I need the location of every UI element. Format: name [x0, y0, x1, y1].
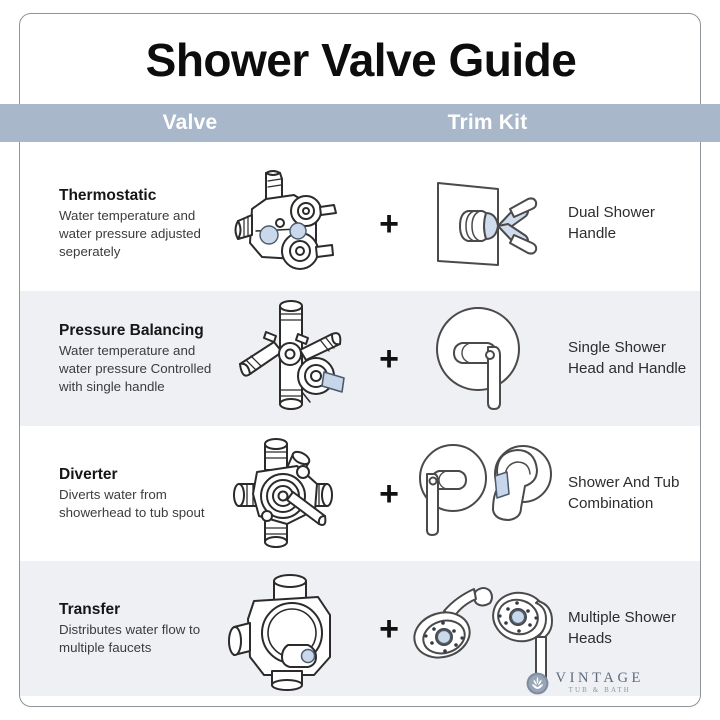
valve-description-cell: Transfer Distributes water flow to multi… [20, 601, 225, 657]
column-header-valve: Valve [110, 104, 270, 142]
result-label: Single Shower Head and Handle [568, 338, 688, 379]
brand-logo[interactable]: VINTAGE TUB & BATH [526, 671, 644, 695]
plus-separator: + [365, 342, 413, 376]
trim-image-cell [413, 303, 558, 415]
lotus-badge-icon [526, 672, 549, 695]
result-cell: Multiple Shower Heads [558, 608, 701, 649]
table-row: Thermostatic Water temperature and water… [20, 156, 701, 291]
valve-name: Thermostatic [59, 187, 217, 206]
round-plate-lever-and-tub-spout-icon [413, 438, 559, 550]
column-header-band: Valve Trim Kit [0, 104, 720, 142]
brand-tagline: TUB & BATH [569, 687, 631, 695]
valve-description-cell: Diverter Diverts water from showerhead t… [20, 466, 225, 522]
table-row: Diverter Diverts water from showerhead t… [20, 426, 701, 561]
plus-separator: + [365, 612, 413, 646]
result-label: Dual Shower Handle [568, 203, 688, 244]
page-title-container: Shower Valve Guide [20, 14, 701, 105]
trim-image-cell [413, 438, 558, 550]
valve-description: Distributes water flow to multiple fauce… [59, 621, 217, 656]
page-title: Shower Valve Guide [146, 33, 577, 87]
round-plate-single-lever-handle-icon [426, 303, 546, 415]
plus-separator: + [365, 207, 413, 241]
column-header-trim-kit: Trim Kit [400, 104, 575, 142]
valve-name: Pressure Balancing [59, 322, 217, 341]
result-label: Multiple Shower Heads [568, 608, 688, 649]
trim-image-cell [413, 169, 558, 279]
brand-name: VINTAGE [556, 671, 644, 686]
thermostatic-valve-icon [236, 165, 354, 283]
valve-image-cell [225, 436, 365, 552]
comparison-rows: Thermostatic Water temperature and water… [20, 156, 701, 663]
result-cell: Shower And Tub Combination [558, 473, 701, 514]
footer: VINTAGE TUB & BATH [20, 660, 701, 706]
result-cell: Dual Shower Handle [558, 203, 701, 244]
diverter-valve-icon [235, 436, 355, 552]
table-row: Pressure Balancing Water temperature and… [20, 291, 701, 426]
valve-description: Water temperature and water pressure Con… [59, 342, 217, 395]
valve-name: Diverter [59, 466, 217, 485]
square-plate-dual-cross-handle-icon [424, 169, 548, 279]
plus-separator: + [365, 477, 413, 511]
result-cell: Single Shower Head and Handle [558, 338, 701, 379]
infographic-page: Shower Valve Guide Thermostatic Water te… [0, 0, 720, 720]
valve-image-cell [225, 300, 365, 418]
valve-description: Diverts water from showerhead to tub spo… [59, 486, 217, 521]
valve-name: Transfer [59, 601, 217, 620]
valve-image-cell [225, 165, 365, 283]
valve-description-cell: Thermostatic Water temperature and water… [20, 187, 225, 260]
valve-description-cell: Pressure Balancing Water temperature and… [20, 322, 225, 395]
pressure-balancing-valve-icon [232, 300, 358, 418]
valve-description: Water temperature and water pressure adj… [59, 207, 217, 260]
brand-wordmark: VINTAGE TUB & BATH [556, 671, 644, 695]
result-label: Shower And Tub Combination [568, 473, 688, 514]
